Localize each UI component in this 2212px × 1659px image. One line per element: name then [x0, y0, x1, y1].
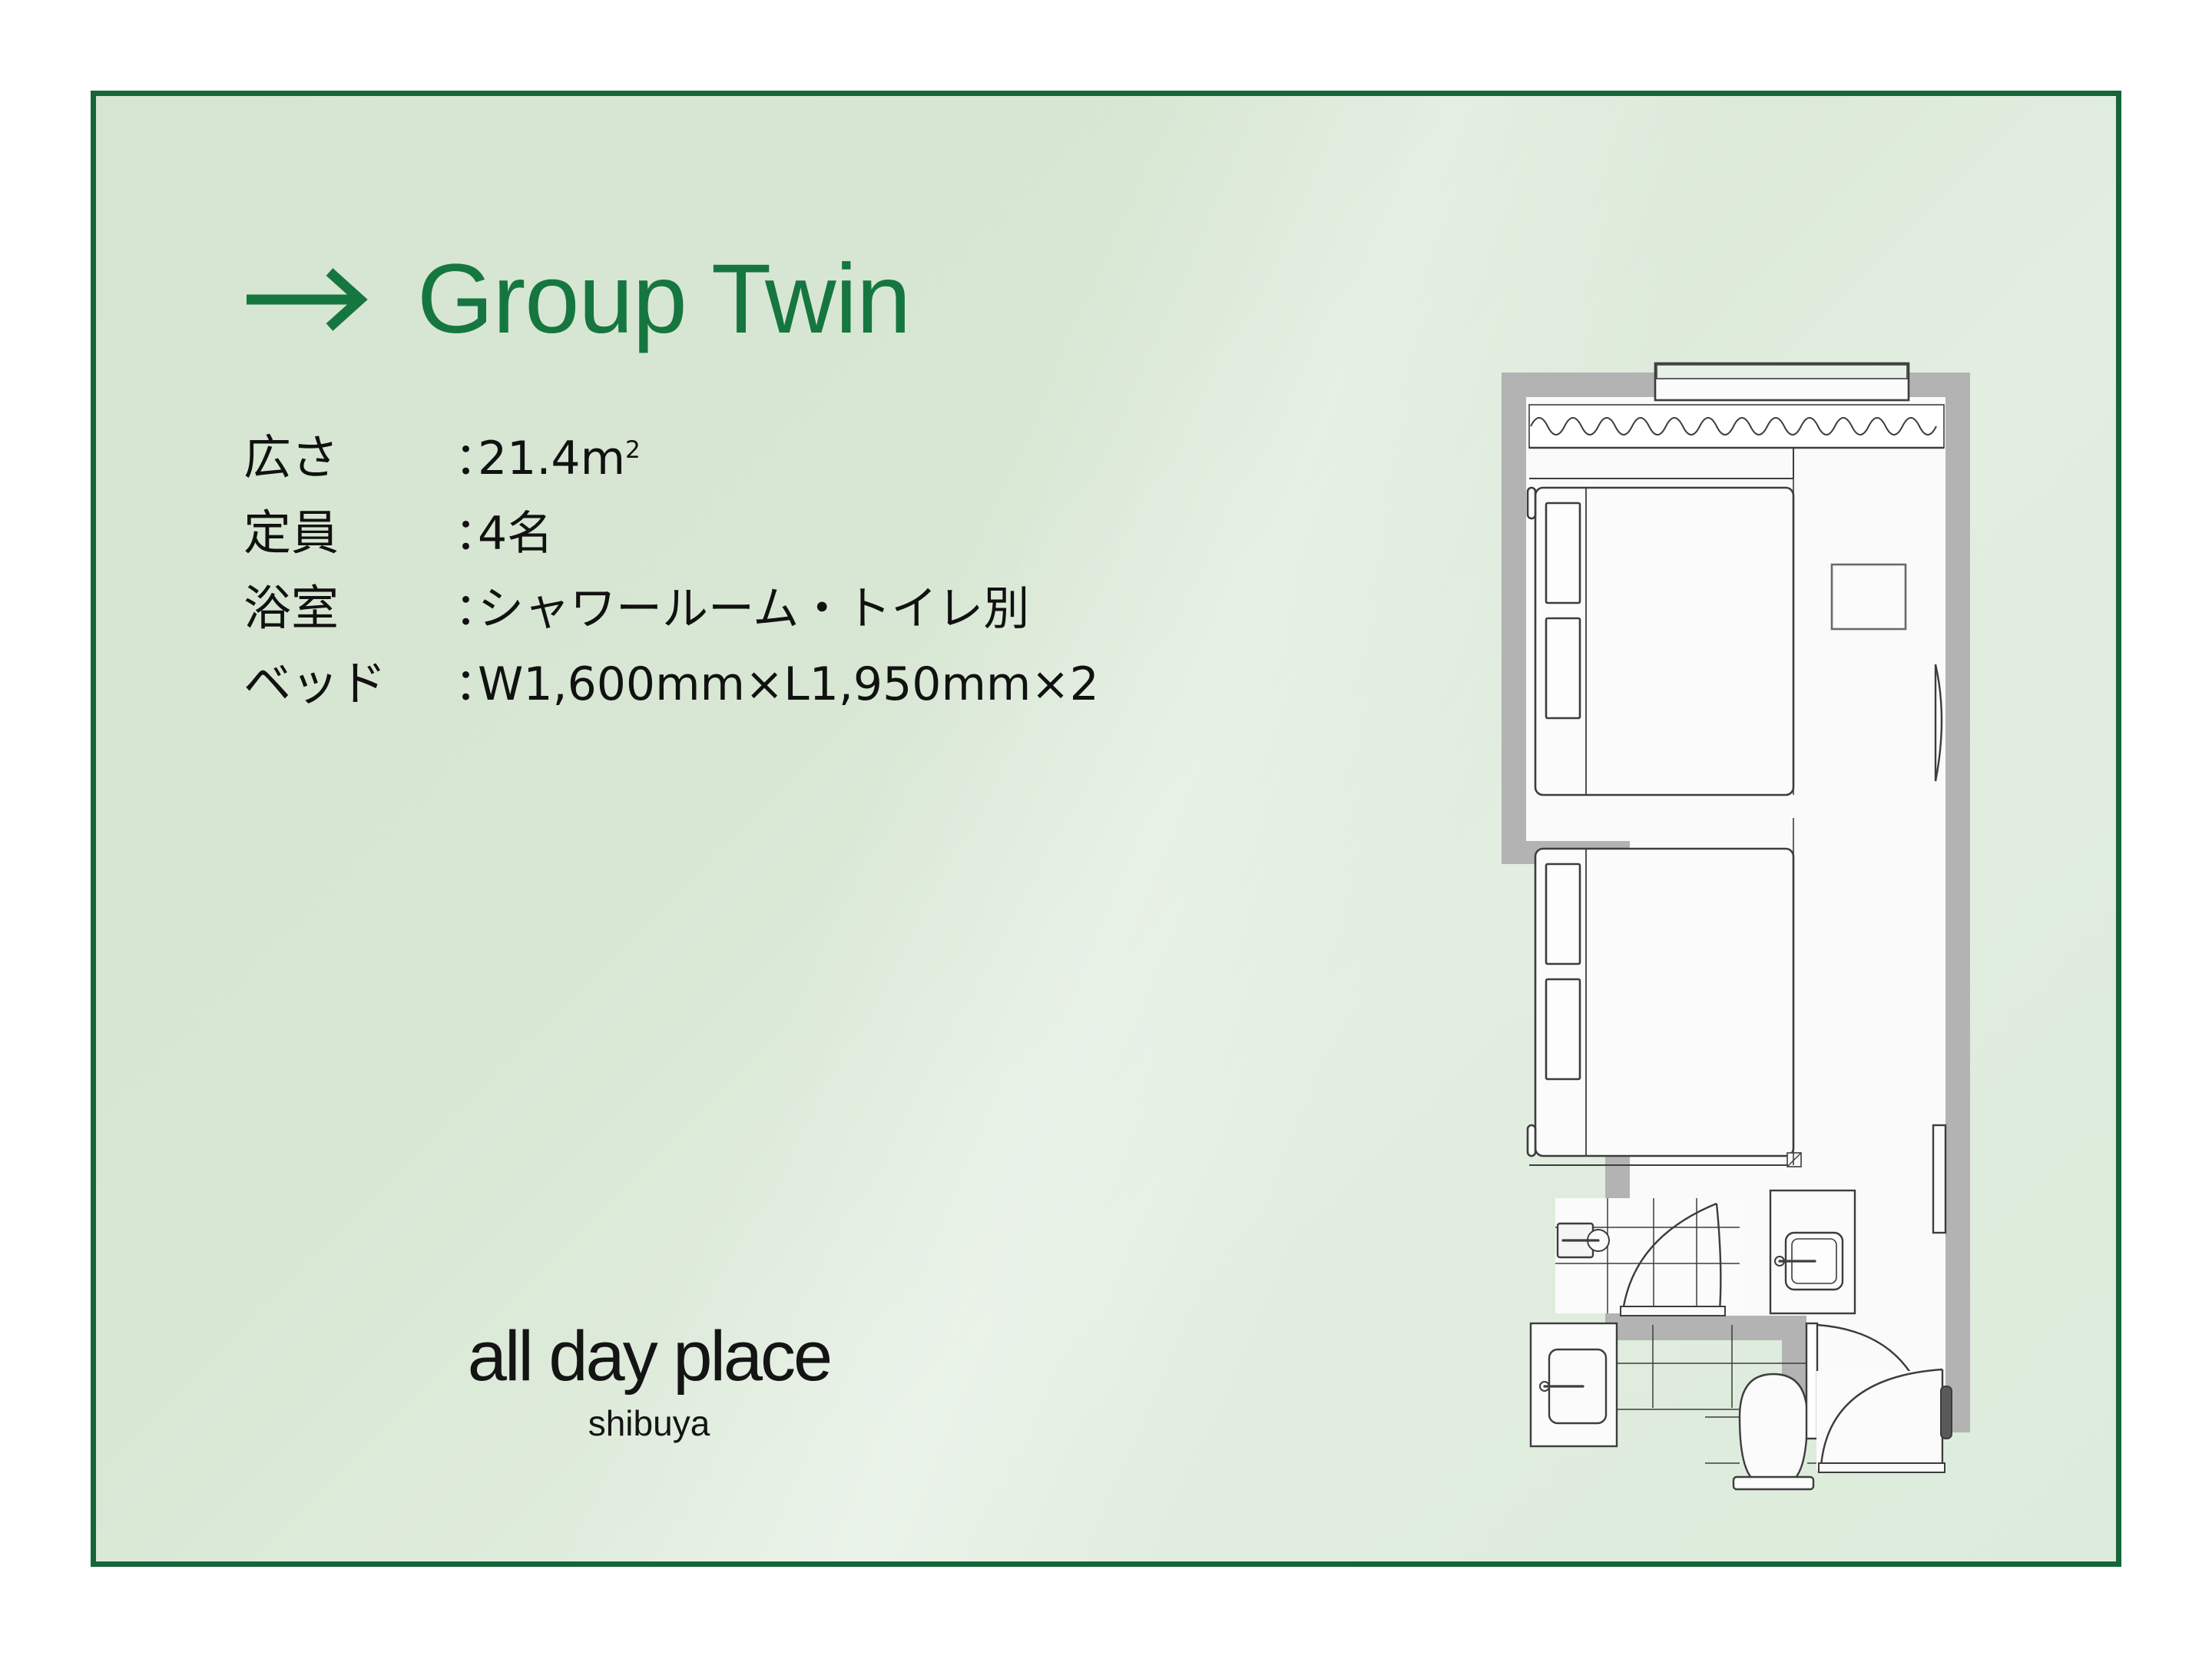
spec-row-area: 広さ ： 21.4m2 — [243, 419, 1319, 494]
spec-value-capacity: 4名 — [478, 496, 553, 563]
spec-value-area-superscript: 2 — [625, 436, 641, 464]
spec-value-area-text: 21.4m — [478, 432, 625, 485]
lower-wall-rail — [1933, 1125, 1945, 1233]
pillow-upper-2 — [1546, 618, 1580, 718]
spec-value-bathroom: シャワールーム・トイレ別 — [478, 571, 1029, 638]
shower-room — [1555, 1198, 1740, 1316]
nightstand — [1832, 565, 1906, 629]
spec-separator-area: ： — [455, 422, 478, 487]
spec-label-bed: ベッド — [243, 644, 455, 714]
floor-plan — [1432, 234, 2047, 1540]
arrow-right-icon — [243, 264, 382, 335]
spec-separator-bed: ： — [455, 648, 478, 713]
title-row: Group Twin — [243, 242, 1319, 357]
bed-upper — [1528, 488, 1793, 795]
pillow-lower-2 — [1546, 979, 1580, 1079]
entrance-door-handle — [1941, 1386, 1952, 1439]
spec-row-bed: ベッド ： W1,600mm×L1,950mm×2 — [243, 644, 1319, 720]
spec-separator-bathroom: ： — [455, 573, 478, 637]
spec-row-capacity: 定員 ： 4名 — [243, 494, 1319, 569]
brand-location: shibuya — [357, 1406, 941, 1441]
entrance-door-swing — [1816, 1369, 1945, 1472]
bed-side-upper — [1528, 488, 1535, 518]
bed-lower — [1528, 818, 1801, 1167]
spec-row-bathroom: 浴室 ： シャワールーム・トイレ別 — [243, 569, 1319, 644]
vanity-sink — [1531, 1323, 1617, 1446]
room-info-panel: Group Twin 広さ ： 21.4m2 定員 ： 4名 浴室 ： シャワー… — [243, 242, 1319, 720]
spec-value-area: 21.4m2 — [478, 432, 641, 485]
pillow-lower-1 — [1546, 864, 1580, 964]
spec-label-capacity: 定員 — [243, 494, 455, 563]
bed-side-lower — [1528, 1125, 1535, 1156]
brand-logo: all day place shibuya — [357, 1321, 941, 1441]
spec-label-area: 広さ — [243, 419, 455, 488]
spec-value-bed: W1,600mm×L1,950mm×2 — [478, 657, 1099, 711]
wash-basin — [1770, 1190, 1855, 1313]
curtain — [1529, 405, 1944, 448]
room-info-card: Group Twin 広さ ： 21.4m2 定員 ： 4名 浴室 ： シャワー… — [91, 91, 2121, 1567]
pillow-upper-1 — [1546, 503, 1580, 603]
window — [1655, 363, 1909, 400]
brand-name: all day place — [357, 1321, 941, 1392]
spec-list: 広さ ： 21.4m2 定員 ： 4名 浴室 ： シャワールーム・トイレ別 ベッ… — [243, 419, 1319, 720]
spec-separator-capacity: ： — [455, 498, 478, 562]
spec-label-bathroom: 浴室 — [243, 569, 455, 638]
page-title: Group Twin — [417, 250, 910, 349]
